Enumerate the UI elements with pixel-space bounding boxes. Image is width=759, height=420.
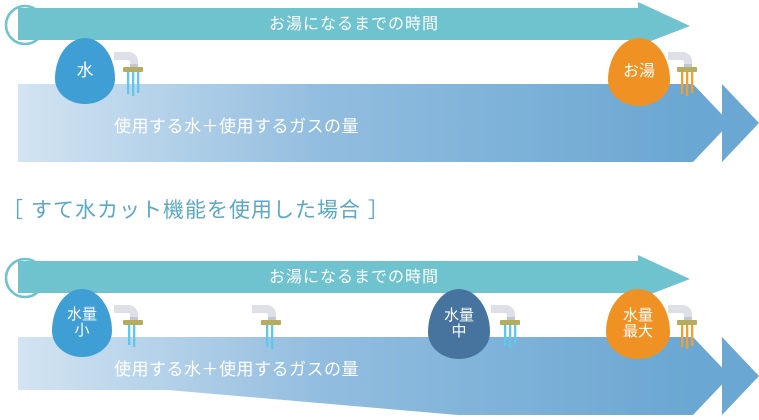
time-arrow-cut-function: お湯になるまでの時間 bbox=[18, 255, 690, 299]
faucet-icon-flow-max bbox=[666, 299, 702, 356]
droplet-hot-water-label: お湯 bbox=[623, 64, 655, 81]
droplet-water-label: 水 bbox=[77, 62, 94, 80]
faucet-icon-water bbox=[112, 46, 148, 103]
droplet-hot-water: お湯 bbox=[608, 38, 670, 106]
droplet-flow-medium-label: 水量中 bbox=[444, 308, 474, 340]
faucet-icon-flow-none bbox=[250, 299, 286, 356]
droplet-flow-max: 水量最大 bbox=[606, 289, 670, 359]
faucet-icon-hot-water bbox=[666, 46, 702, 103]
droplet-flow-max-label-bottom: 最大 bbox=[623, 323, 653, 340]
droplet-water: 水 bbox=[55, 38, 115, 104]
clock-icon-cut-function bbox=[3, 256, 47, 305]
droplet-flow-medium-label-top: 水量 bbox=[444, 307, 474, 324]
droplet-flow-small-label-bottom: 小 bbox=[74, 322, 89, 339]
droplet-flow-small-label-top: 水量 bbox=[67, 306, 97, 323]
diagram-canvas: お湯になるまでの時間 使用する水＋使用するガスの量 bbox=[0, 0, 759, 415]
droplet-flow-small-label: 水量小 bbox=[67, 307, 97, 339]
clock-icon bbox=[3, 3, 47, 52]
faucet-icon-flow-small bbox=[112, 299, 148, 356]
time-arrow-shape-standard bbox=[18, 2, 690, 46]
section-caption-cut-function: ［ すて水カット機能を使用した場合 ］ bbox=[2, 194, 390, 224]
droplet-flow-max-label: 水量最大 bbox=[623, 308, 653, 340]
droplet-flow-medium-label-bottom: 中 bbox=[451, 323, 466, 340]
time-arrow-standard: お湯になるまでの時間 bbox=[18, 2, 690, 46]
faucet-icon-flow-medium bbox=[489, 299, 525, 356]
droplet-flow-max-label-top: 水量 bbox=[623, 307, 653, 324]
droplet-flow-medium: 水量中 bbox=[428, 289, 490, 359]
time-arrow-shape-cut-function bbox=[18, 255, 690, 299]
droplet-flow-small: 水量小 bbox=[52, 289, 112, 357]
